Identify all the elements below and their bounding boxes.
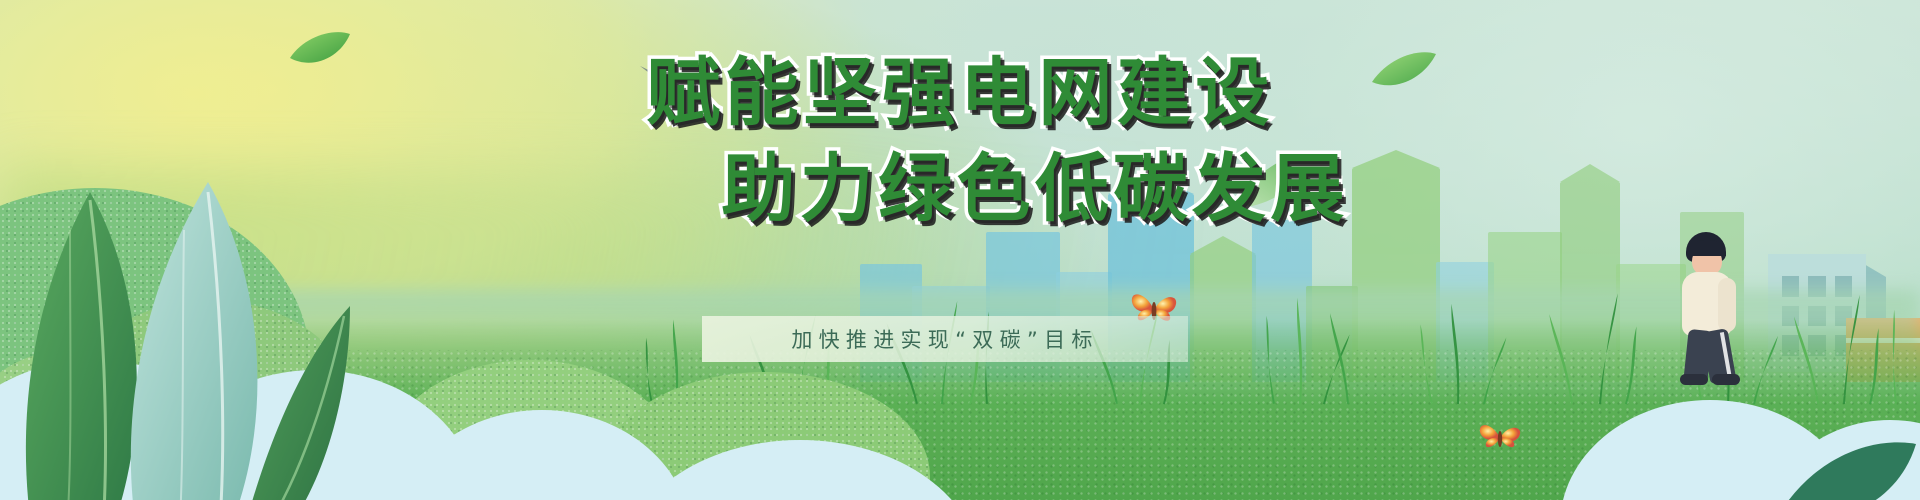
foreground-leaf-small-dark <box>238 300 378 500</box>
grass-blade <box>1614 326 1655 407</box>
person-shoe-right <box>1712 374 1740 385</box>
grass-blade <box>1446 304 1471 405</box>
subtitle-text: 加快推进实现“双碳”目标 <box>702 316 1188 362</box>
grass-blade <box>1401 324 1442 407</box>
walking-person <box>1672 232 1750 382</box>
grass-blade <box>1832 294 1862 405</box>
foreground-leaf-right <box>1770 420 1920 500</box>
grass-blade <box>1588 291 1620 404</box>
grass-blade <box>1288 297 1317 404</box>
butterfly-icon-lower <box>1476 418 1524 456</box>
floating-leaf-mid-right <box>1228 150 1316 212</box>
floating-leaf-top-left <box>288 28 352 68</box>
eco-grid-banner: 赋能坚强电网建设 助力绿色低碳发展 加快推进实现“双碳”目标 <box>0 0 1920 500</box>
swallow-bird-icon <box>628 58 724 120</box>
person-shoe-left <box>1680 374 1708 385</box>
grass-blade <box>1247 315 1284 405</box>
grass-blade <box>1547 311 1582 405</box>
floating-leaf-top-right <box>1368 48 1438 92</box>
person-sleeve <box>1718 278 1736 332</box>
grass-blade <box>1792 313 1828 405</box>
grass-blade <box>1472 333 1508 406</box>
